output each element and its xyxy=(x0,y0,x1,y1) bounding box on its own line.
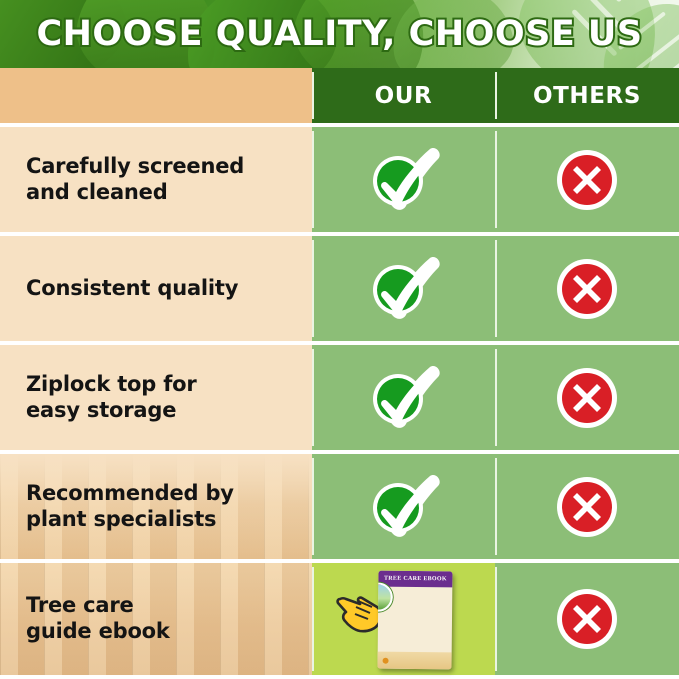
column-divider xyxy=(495,458,497,555)
table-row: Consistent quality xyxy=(0,236,679,341)
feature-label: Recommended byplant specialists xyxy=(26,481,234,532)
feature-label: Consistent quality xyxy=(26,276,238,302)
header-label-our: OUR xyxy=(375,83,433,109)
feature-label: Tree careguide ebook xyxy=(26,593,170,644)
column-divider xyxy=(495,240,497,337)
our-cell xyxy=(312,345,495,450)
check-circle-icon xyxy=(367,474,441,540)
column-divider xyxy=(495,72,497,119)
bullet-icon xyxy=(382,657,388,663)
column-divider xyxy=(495,567,497,671)
column-divider xyxy=(312,567,314,671)
banner-header: CHOOSE QUALITY, CHOOSE US xyxy=(0,0,679,68)
feature-cell: Tree careguide ebook xyxy=(0,563,312,675)
header-label-others: OTHERS xyxy=(533,83,641,109)
column-divider xyxy=(312,131,314,228)
feature-cell: Carefully screenedand cleaned xyxy=(0,127,312,232)
our-cell xyxy=(312,236,495,341)
header-cell-our: OUR xyxy=(312,68,495,123)
table-row: Recommended byplant specialists xyxy=(0,454,679,559)
ebook-title: TREE CARE EBOOK xyxy=(383,576,446,583)
x-circle-icon xyxy=(556,588,618,650)
header-cell-feature xyxy=(0,68,312,123)
others-cell xyxy=(495,127,679,232)
ebook-thumbnail[interactable]: TREE CARE EBOOK xyxy=(377,571,452,670)
our-cell xyxy=(312,127,495,232)
our-cell xyxy=(312,454,495,559)
column-divider xyxy=(312,240,314,337)
table-row: Ziplock top foreasy storage xyxy=(0,345,679,450)
page-title: CHOOSE QUALITY, CHOOSE US xyxy=(0,0,679,68)
column-divider xyxy=(495,349,497,446)
ebook-title-banner: TREE CARE EBOOK xyxy=(378,571,452,588)
header-cell-others: OTHERS xyxy=(495,68,679,123)
check-circle-icon xyxy=(367,147,441,213)
ebook-footer xyxy=(377,652,451,670)
x-circle-icon xyxy=(556,476,618,538)
feature-label: Carefully screenedand cleaned xyxy=(26,154,244,205)
column-divider xyxy=(312,72,314,119)
comparison-table: OUR OTHERS Carefully screenedand cleaned xyxy=(0,68,679,679)
others-cell xyxy=(495,236,679,341)
x-circle-icon xyxy=(556,258,618,320)
feature-cell: Ziplock top foreasy storage xyxy=(0,345,312,450)
x-circle-icon xyxy=(556,149,618,211)
others-cell xyxy=(495,345,679,450)
comparison-infographic: CHOOSE QUALITY, CHOOSE US OUR OTHERS Car… xyxy=(0,0,679,679)
x-circle-icon xyxy=(556,367,618,429)
table-row: Carefully screenedand cleaned xyxy=(0,127,679,232)
check-circle-icon xyxy=(367,256,441,322)
others-cell xyxy=(495,454,679,559)
feature-cell: Recommended byplant specialists xyxy=(0,454,312,559)
column-divider xyxy=(312,458,314,555)
feature-cell: Consistent quality xyxy=(0,236,312,341)
table-row: Tree careguide ebook xyxy=(0,563,679,675)
column-divider xyxy=(495,131,497,228)
others-cell xyxy=(495,563,679,675)
check-circle-icon xyxy=(367,365,441,431)
our-cell: TREE CARE EBOOK xyxy=(312,563,495,675)
table-header-row: OUR OTHERS xyxy=(0,68,679,123)
feature-label: Ziplock top foreasy storage xyxy=(26,372,197,423)
footer-text xyxy=(391,660,446,661)
column-divider xyxy=(312,349,314,446)
